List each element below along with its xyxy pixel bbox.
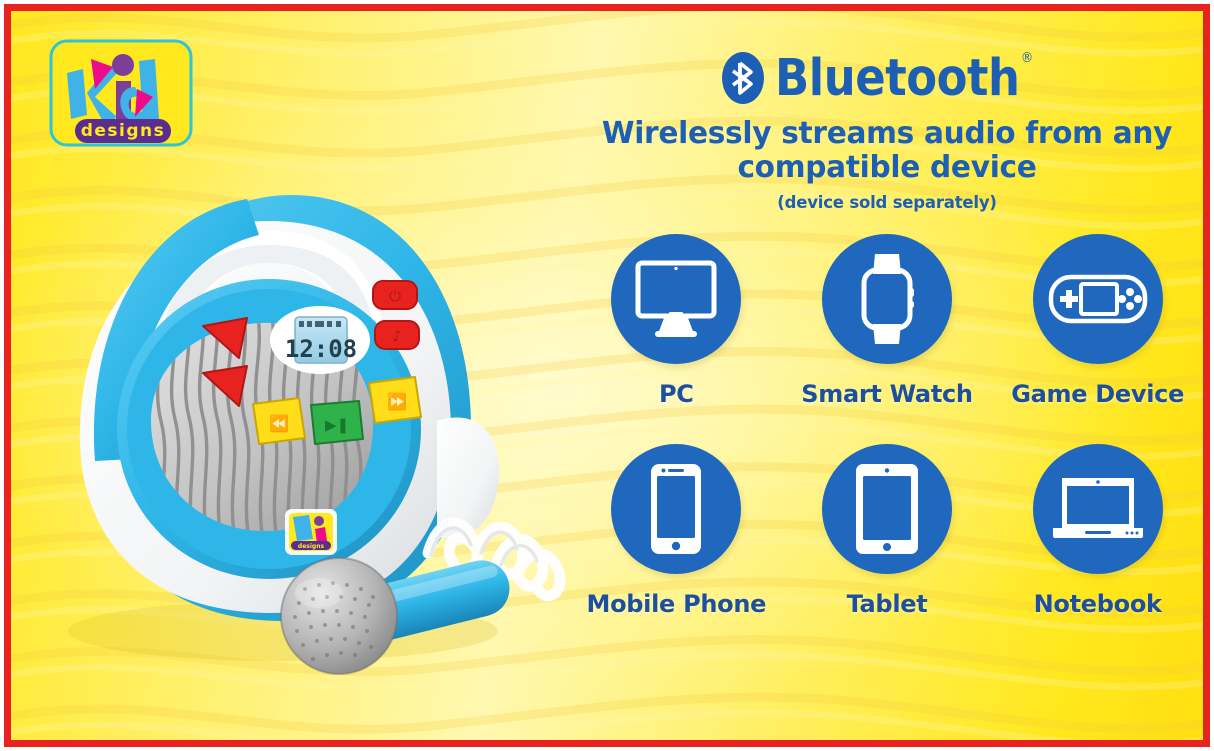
svg-text:⏪: ⏪: [269, 414, 289, 433]
device-icon-circle-mobile-phone: [611, 444, 741, 574]
device-cell-pc: PC: [571, 234, 782, 444]
red-border: designs: [4, 4, 1210, 747]
device-label-smart-watch: Smart Watch: [801, 380, 972, 408]
bluetooth-rune-icon: [721, 51, 765, 105]
compatible-devices-grid: PC Smart Watch: [571, 234, 1203, 654]
svg-text:⏩: ⏩: [387, 392, 407, 411]
lcd-time-display: 12:08: [285, 335, 357, 363]
image-frame: designs: [0, 0, 1214, 751]
device-icon-circle-notebook: [1033, 444, 1163, 574]
headline-line-1: Wirelessly streams audio from any: [580, 117, 1193, 151]
registered-trademark-symbol: ®: [1021, 51, 1033, 65]
device-label-tablet: Tablet: [847, 590, 928, 618]
laptop-icon: [1049, 474, 1147, 544]
product-photo-speaker: 12:08 ⏻ ♪ ⏪ ⏩ ▶❚: [33, 161, 593, 681]
monitor-icon: [633, 258, 719, 340]
bluetooth-info-panel: Bluetooth ® Wirelessly streams audio fro…: [571, 47, 1203, 707]
product-logo-badge: designs: [285, 509, 337, 555]
handheld-game-console-icon: [1048, 270, 1148, 328]
device-cell-tablet: Tablet: [782, 444, 993, 654]
smartwatch-icon: [854, 252, 920, 346]
device-label-notebook: Notebook: [1034, 590, 1162, 618]
device-cell-game-device: Game Device: [992, 234, 1203, 444]
device-icon-circle-tablet: [822, 444, 952, 574]
device-cell-mobile-phone: Mobile Phone: [571, 444, 782, 654]
tablet-icon: [854, 462, 920, 556]
headline: Wirelessly streams audio from any compat…: [580, 117, 1193, 186]
device-label-mobile-phone: Mobile Phone: [587, 590, 767, 618]
svg-text:designs: designs: [298, 543, 325, 550]
device-icon-circle-pc: [611, 234, 741, 364]
device-cell-notebook: Notebook: [992, 444, 1203, 654]
svg-text:designs: designs: [81, 121, 166, 141]
device-label-pc: PC: [659, 380, 694, 408]
device-cell-smart-watch: Smart Watch: [782, 234, 993, 444]
device-icon-circle-game-device: [1033, 234, 1163, 364]
device-icon-circle-smart-watch: [822, 234, 952, 364]
kid-designs-logo: designs: [47, 37, 195, 149]
bluetooth-wordmark-text: Bluetooth: [775, 49, 1020, 108]
bluetooth-wordmark: Bluetooth ®: [775, 53, 1020, 104]
smartphone-icon: [649, 462, 703, 556]
bluetooth-logo-row: Bluetooth ®: [571, 47, 1203, 109]
headline-line-2: compatible device: [580, 151, 1193, 185]
device-label-game-device: Game Device: [1011, 380, 1184, 408]
svg-text:⏻: ⏻: [389, 287, 401, 305]
svg-text:♪: ♪: [392, 327, 402, 345]
disclaimer-note: (device sold separately): [571, 193, 1203, 212]
svg-text:▶❚: ▶❚: [325, 416, 349, 434]
